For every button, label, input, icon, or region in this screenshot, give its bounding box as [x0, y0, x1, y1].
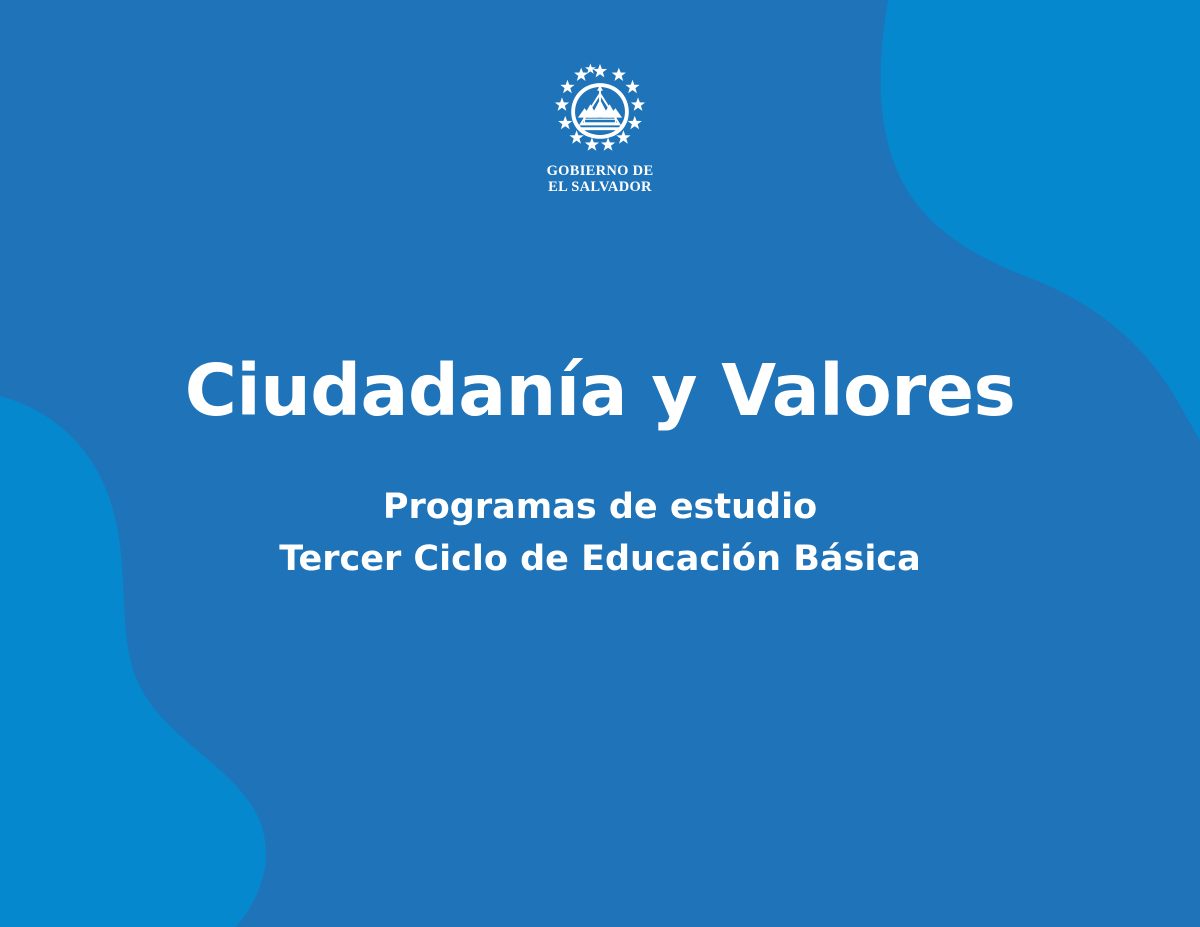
- title-area: Ciudadanía y Valores: [0, 348, 1200, 434]
- cover-page: GOBIERNO DE EL SALVADOR Ciudadanía y Val…: [0, 0, 1200, 927]
- el-salvador-coat-of-arms-icon: [552, 62, 648, 158]
- page-title: Ciudadanía y Valores: [0, 348, 1200, 434]
- subtitle-line-1: Programas de estudio: [0, 481, 1200, 533]
- wordmark-line-1: GOBIERNO DE: [547, 164, 654, 180]
- government-wordmark: GOBIERNO DE EL SALVADOR: [547, 164, 654, 195]
- cover-content: GOBIERNO DE EL SALVADOR Ciudadanía y Val…: [0, 0, 1200, 927]
- wordmark-line-2: EL SALVADOR: [547, 180, 654, 196]
- government-logo: GOBIERNO DE EL SALVADOR: [0, 62, 1200, 195]
- subtitle-line-2: Tercer Ciclo de Educación Básica: [0, 533, 1200, 585]
- subtitle-area: Programas de estudio Tercer Ciclo de Edu…: [0, 481, 1200, 585]
- emblem-core: [571, 83, 629, 139]
